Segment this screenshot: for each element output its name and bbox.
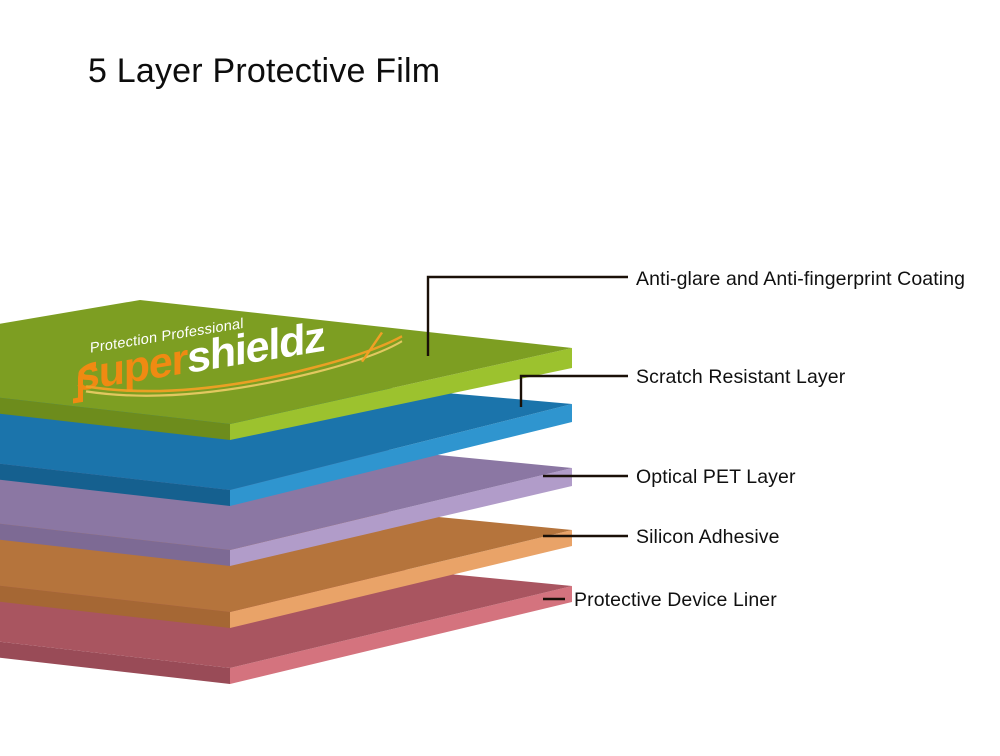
callout-liner: Protective Device Liner [574, 589, 777, 612]
callout-scratch: Scratch Resistant Layer [636, 366, 845, 389]
callout-anti-glare: Anti-glare and Anti-fingerprint Coating [636, 268, 965, 291]
callout-silicon: Silicon Adhesive [636, 526, 780, 549]
layer-stack-diagram [0, 0, 1000, 756]
diagram-canvas: 5 Layer Protective Film [0, 0, 1000, 756]
callout-optical-pet: Optical PET Layer [636, 466, 796, 489]
